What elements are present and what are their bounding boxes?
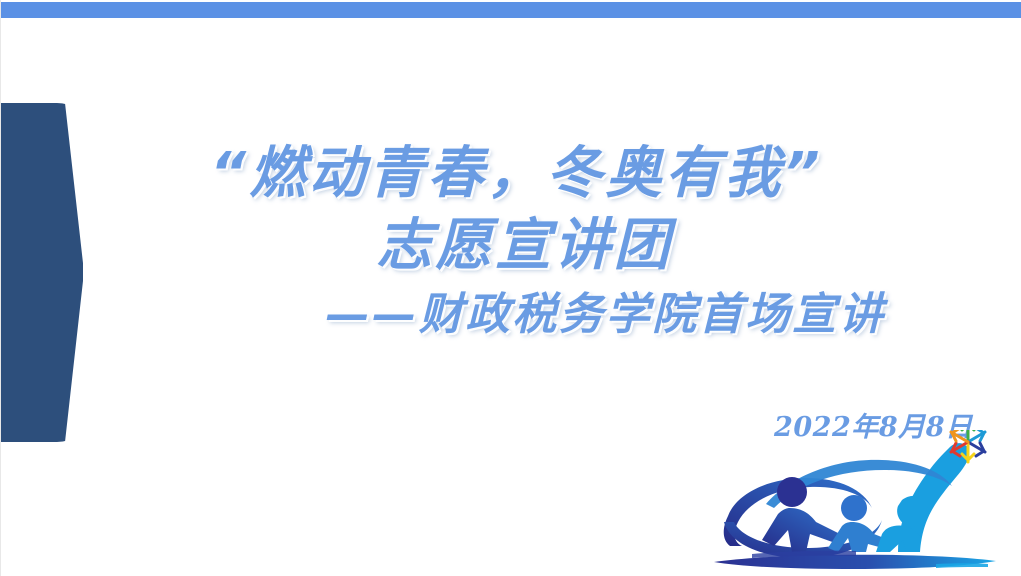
title-line-2: 志愿宣讲团	[1, 210, 1021, 282]
title-subtitle-line: ——财政税务学院首场宣讲	[1, 284, 1021, 346]
top-accent-bar	[1, 2, 1021, 18]
winter-olympics-volunteer-emblem-icon	[706, 430, 1016, 576]
title-block: “燃动青春，冬奥有我” 志愿宣讲团 ——财政税务学院首场宣讲	[1, 138, 1021, 346]
title-line-1: “燃动青春，冬奥有我”	[1, 138, 1021, 210]
presentation-slide: “燃动青春，冬奥有我” 志愿宣讲团 ——财政税务学院首场宣讲 2022年8月8日	[0, 0, 1021, 576]
left-decorative-shape	[0, 103, 84, 442]
